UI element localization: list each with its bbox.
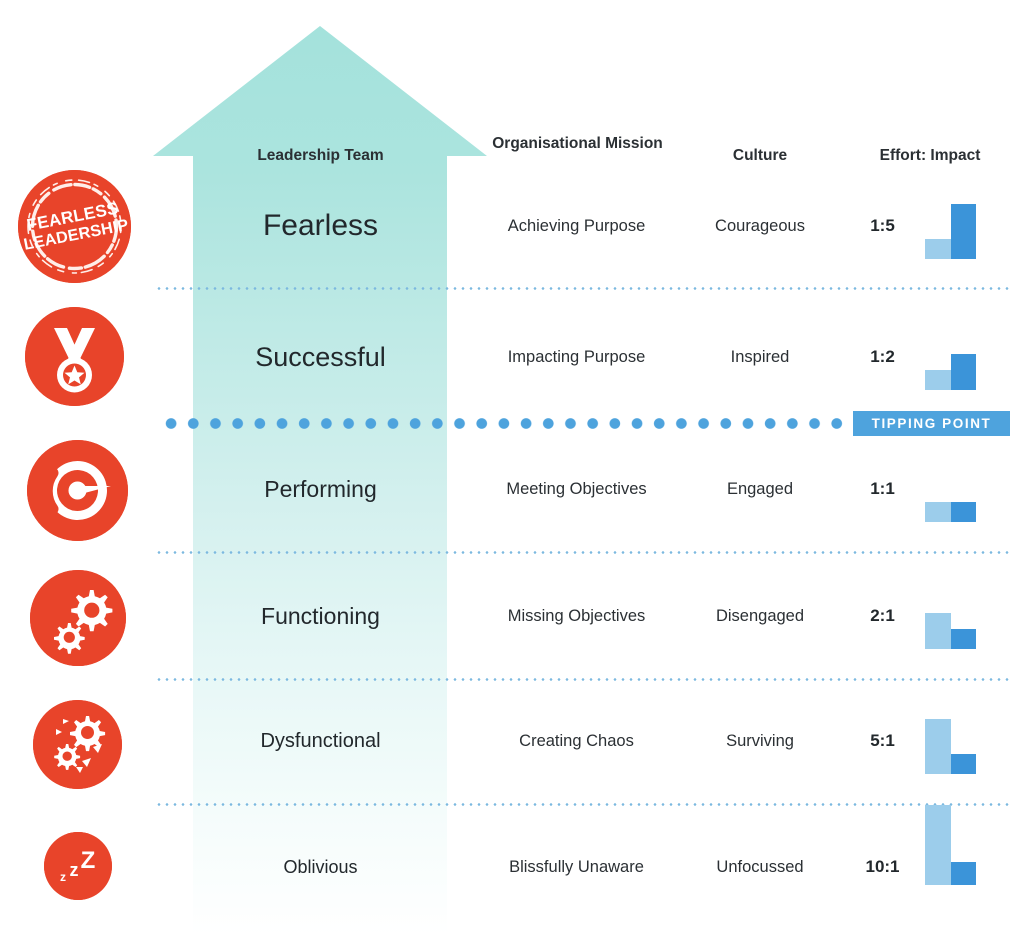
- effort-bar: [925, 370, 951, 390]
- tipping-point-badge: TIPPING POINT: [853, 411, 1010, 436]
- header-effort-impact: Effort: Impact: [845, 146, 1015, 165]
- cell-effort-impact-ratio: 10:1: [845, 817, 920, 917]
- impact-bar: [951, 754, 976, 774]
- effort-impact-bar-pair: [918, 439, 988, 539]
- cell-leadership-team: Successful: [193, 307, 448, 407]
- cell-effort-impact-ratio: 1:1: [845, 439, 920, 539]
- impact-bar: [951, 204, 976, 259]
- cell-organisational-mission: Blissfully Unaware: [468, 817, 685, 917]
- cell-effort-impact-ratio: 1:5: [845, 176, 920, 276]
- tipping-point-dotted-line: [160, 417, 850, 430]
- impact-bar: [951, 354, 976, 390]
- row-divider: [155, 803, 1010, 806]
- effort-bar: [925, 502, 951, 522]
- infographic-root: FEARLESS LEADERSHIP: [0, 0, 1024, 935]
- effort-impact-bar-pair: [918, 566, 988, 666]
- table-row: Fearless Achieving Purpose Courageous 1:…: [0, 176, 1024, 276]
- effort-bar: [925, 613, 951, 649]
- table-row: Dysfunctional Creating Chaos Surviving 5…: [0, 691, 1024, 791]
- effort-impact-bar-pair: [918, 691, 988, 791]
- cell-leadership-team: Fearless: [193, 176, 448, 276]
- cell-leadership-team: Performing: [193, 439, 448, 539]
- impact-bar: [951, 862, 976, 885]
- row-divider: [155, 678, 1010, 681]
- header-leadership-team: Leadership Team: [193, 146, 448, 165]
- cell-culture: Inspired: [690, 307, 830, 407]
- impact-bar: [951, 502, 976, 522]
- cell-culture: Unfocussed: [690, 817, 830, 917]
- cell-culture: Courageous: [690, 176, 830, 276]
- cell-leadership-team: Dysfunctional: [193, 691, 448, 791]
- effort-bar: [925, 239, 951, 259]
- tipping-point-label: TIPPING POINT: [872, 416, 992, 431]
- impact-bar: [951, 629, 976, 649]
- effort-impact-bar-pair: [918, 307, 988, 407]
- cell-organisational-mission: Impacting Purpose: [468, 307, 685, 407]
- cell-leadership-team: Oblivious: [193, 817, 448, 917]
- table-row: Successful Impacting Purpose Inspired 1:…: [0, 307, 1024, 407]
- cell-effort-impact-ratio: 1:2: [845, 307, 920, 407]
- cell-culture: Disengaged: [690, 566, 830, 666]
- cell-leadership-team: Functioning: [193, 566, 448, 666]
- effort-impact-bar-pair: [918, 817, 988, 917]
- cell-organisational-mission: Missing Objectives: [468, 566, 685, 666]
- header-organisational-mission: Organisational Mission: [470, 134, 685, 153]
- row-divider: [155, 287, 1010, 290]
- cell-effort-impact-ratio: 2:1: [845, 566, 920, 666]
- table-row: Functioning Missing Objectives Disengage…: [0, 566, 1024, 666]
- cell-culture: Surviving: [690, 691, 830, 791]
- effort-bar: [925, 719, 951, 774]
- effort-impact-bar-pair: [918, 176, 988, 276]
- cell-organisational-mission: Meeting Objectives: [468, 439, 685, 539]
- cell-effort-impact-ratio: 5:1: [845, 691, 920, 791]
- row-divider: [155, 551, 1010, 554]
- cell-organisational-mission: Creating Chaos: [468, 691, 685, 791]
- header-culture: Culture: [690, 146, 830, 165]
- table-row: Performing Meeting Objectives Engaged 1:…: [0, 439, 1024, 539]
- cell-culture: Engaged: [690, 439, 830, 539]
- effort-bar: [925, 805, 951, 885]
- cell-organisational-mission: Achieving Purpose: [468, 176, 685, 276]
- table-row: Oblivious Blissfully Unaware Unfocussed …: [0, 817, 1024, 917]
